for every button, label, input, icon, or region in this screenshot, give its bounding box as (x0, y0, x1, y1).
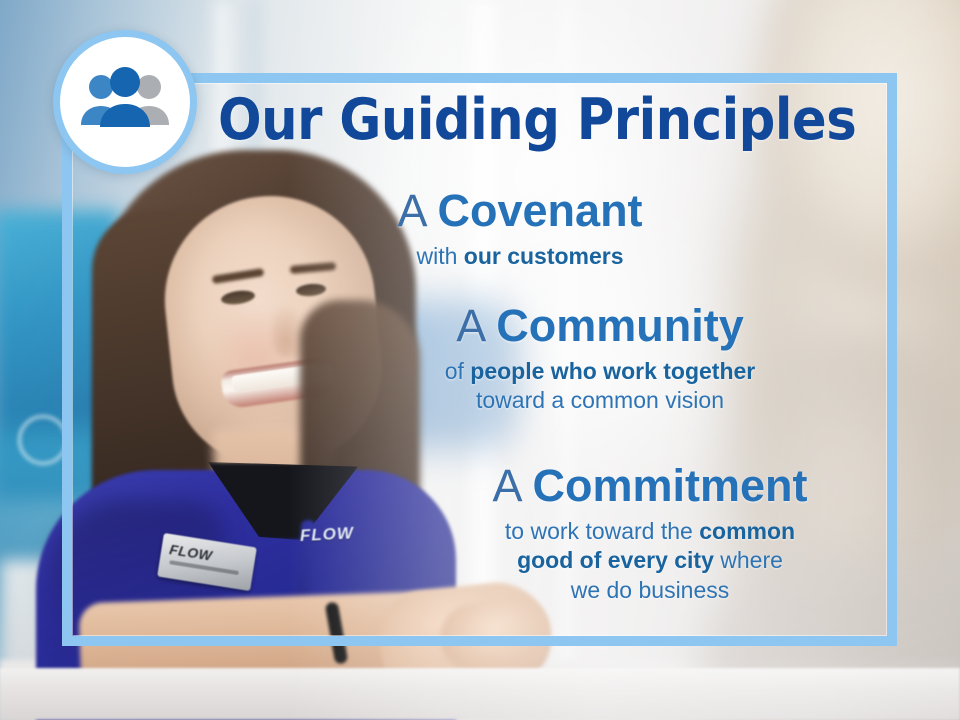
people-group-icon (77, 67, 173, 137)
people-group-badge (53, 30, 197, 174)
page-title: Our Guiding Principles (218, 92, 878, 149)
promotional-graphic: FLOW FLOW (0, 0, 960, 720)
